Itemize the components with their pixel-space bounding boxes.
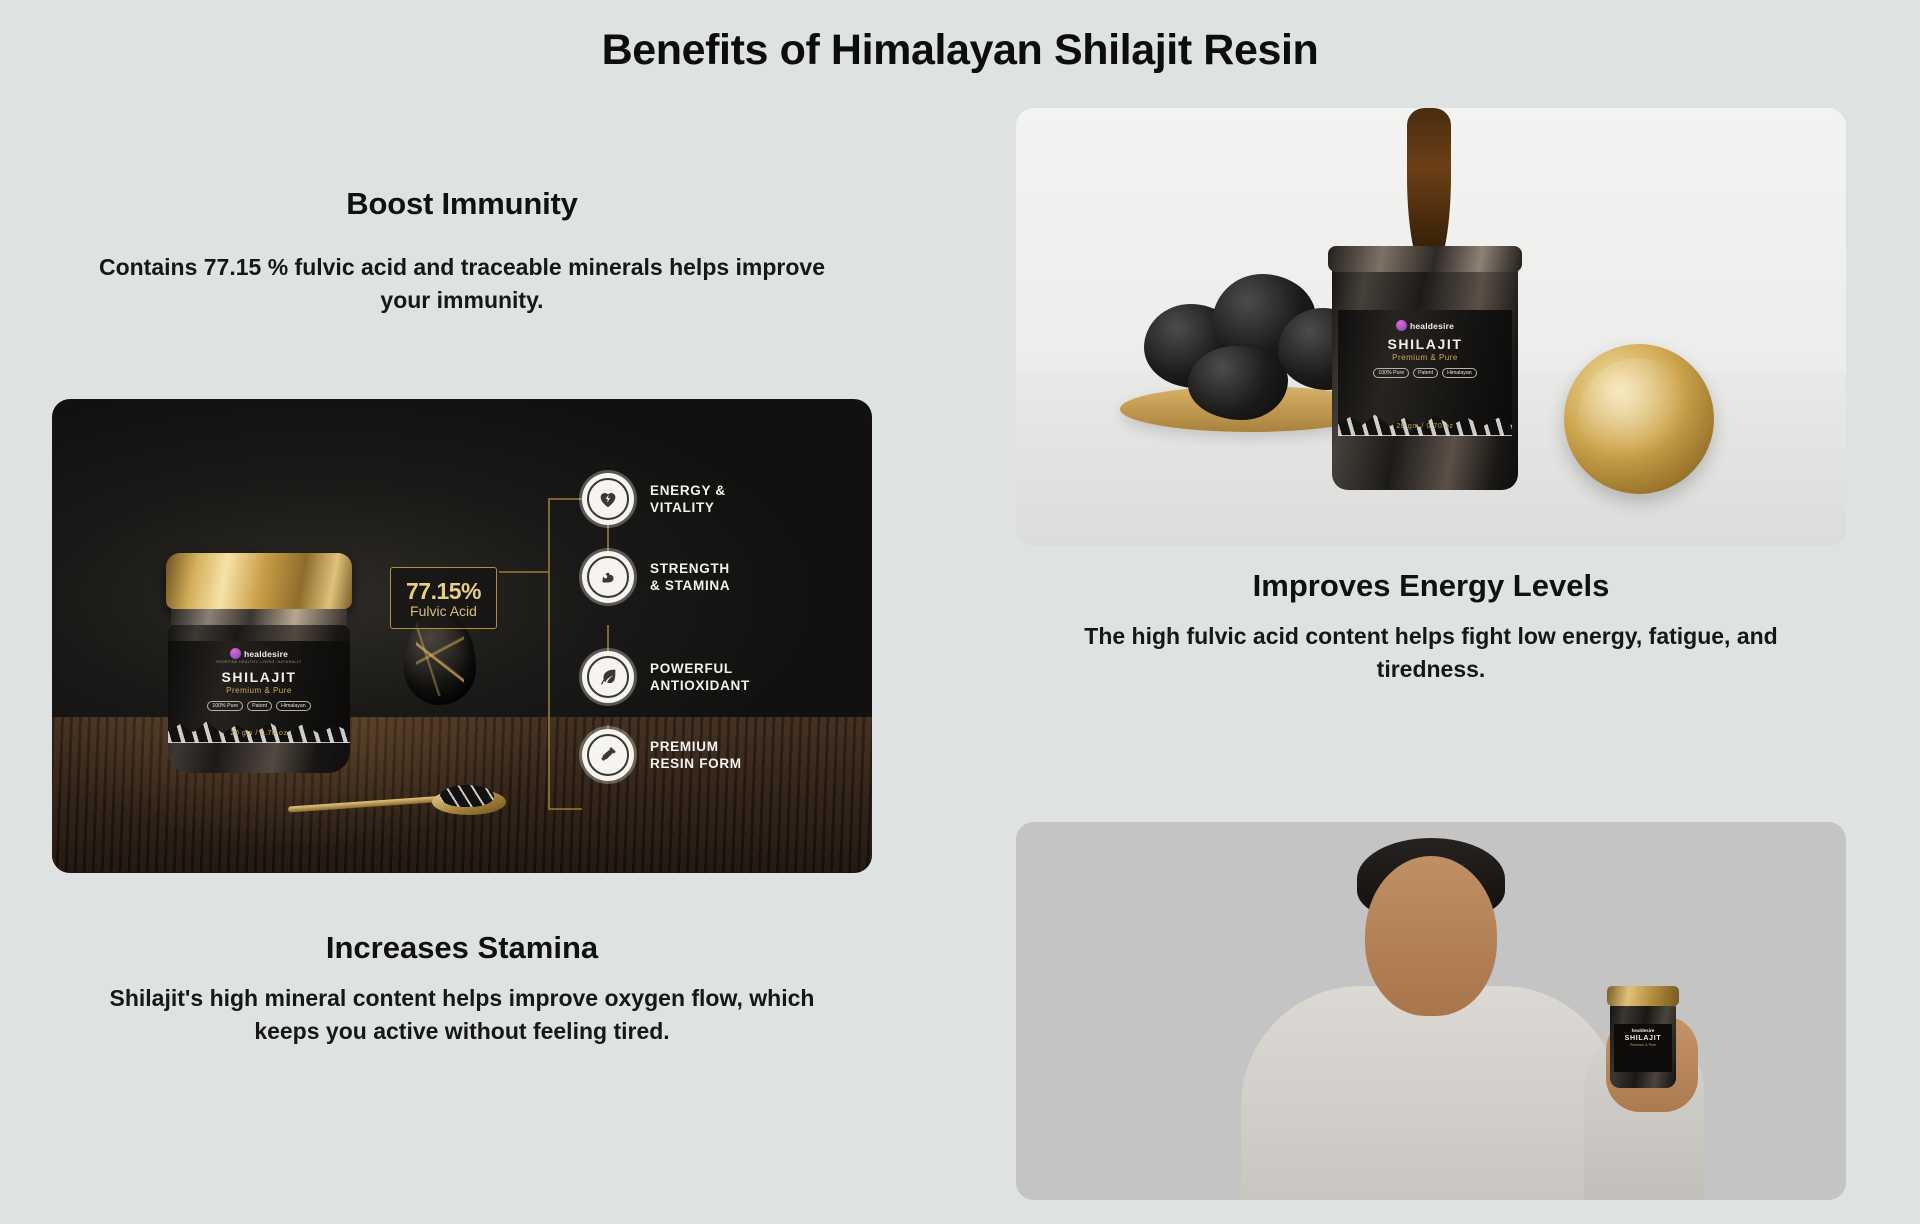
gold-lid-detached: [1564, 344, 1714, 494]
node-label-powerful-antioxidant: POWERFUL ANTIOXIDANT: [650, 661, 750, 695]
increases-stamina-heading: Increases Stamina: [52, 930, 872, 966]
node-premium-resin-form: [582, 729, 634, 781]
open-jar: healdesire SHILAJIT Premium & Pure 100% …: [1332, 258, 1518, 490]
claim-pill: Himalayan: [1442, 368, 1477, 378]
jar-net-weight: 20 gm / 0.70 oz: [1338, 423, 1512, 430]
brand-logo-icon: [1396, 320, 1407, 331]
muscle-arm-icon: [587, 556, 629, 598]
leaf-icon: [587, 656, 629, 698]
brand-name: healdesire: [1410, 321, 1454, 331]
benefits-poster: Benefits of Himalayan Shilajit Resin Boo…: [0, 0, 1920, 1224]
boost-immunity-body: Contains 77.15 % fulvic acid and traceab…: [52, 251, 872, 318]
block-boost-immunity: Boost Immunity Contains 77.15 % fulvic a…: [52, 186, 872, 318]
shilajit-jar-open-photo: healdesire SHILAJIT Premium & Pure 100% …: [1016, 108, 1846, 546]
shilajit-infographic-image: healdesire REDEFINE HEALTHY, LIVING, NAT…: [52, 399, 872, 873]
open-jar-rim: [1328, 246, 1522, 272]
node-energy-vitality: [582, 473, 634, 525]
man-holding-jar-photo: healdesire SHILAJIT Premium & Pure: [1016, 822, 1846, 1200]
node-strength-stamina: [582, 551, 634, 603]
held-jar: healdesire SHILAJIT Premium & Pure: [1610, 1002, 1676, 1088]
brand-row: healdesire: [1396, 320, 1454, 331]
node-label-energy-vitality: ENERGY & VITALITY: [650, 483, 726, 517]
brand-name: healdesire: [1632, 1028, 1655, 1033]
heart-bolt-icon: [587, 478, 629, 520]
man-torso: [1241, 986, 1621, 1200]
dropper-icon: [587, 734, 629, 776]
boost-immunity-heading: Boost Immunity: [52, 186, 872, 222]
jar-product-subtitle: Premium & Pure: [1630, 1043, 1656, 1047]
increases-stamina-body: Shilajit's high mineral content helps im…: [92, 982, 832, 1049]
man-face: [1365, 856, 1497, 1016]
connector-lines: [52, 399, 872, 873]
claim-pill: 100% Pure: [1373, 368, 1409, 378]
claim-pill: Patent: [1413, 368, 1438, 378]
improves-energy-body: The high fulvic acid content helps fight…: [1046, 620, 1816, 687]
open-jar-label: healdesire SHILAJIT Premium & Pure 100% …: [1338, 310, 1512, 436]
held-jar-label: healdesire SHILAJIT Premium & Pure: [1614, 1024, 1672, 1072]
jar-product-subtitle: Premium & Pure: [1392, 353, 1458, 362]
page-title: Benefits of Himalayan Shilajit Resin: [0, 26, 1920, 75]
held-jar-lid: [1607, 986, 1679, 1006]
node-powerful-antioxidant: [582, 651, 634, 703]
node-label-premium-resin-form: PREMIUM RESIN FORM: [650, 739, 742, 773]
jar-product-name: SHILAJIT: [1387, 336, 1462, 352]
jar-claim-pills: 100% Pure Patent Himalayan: [1373, 368, 1476, 378]
node-label-strength-stamina: STRENGTH & STAMINA: [650, 561, 730, 595]
resin-ball: [1188, 346, 1288, 420]
improves-energy-heading: Improves Energy Levels: [1016, 568, 1846, 604]
jar-product-name: SHILAJIT: [1625, 1035, 1662, 1042]
